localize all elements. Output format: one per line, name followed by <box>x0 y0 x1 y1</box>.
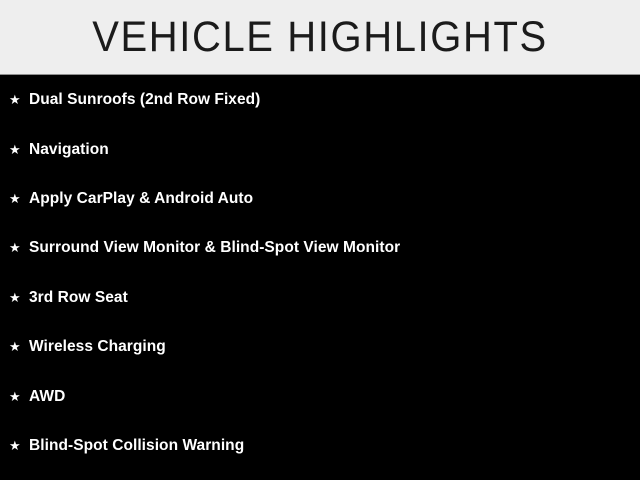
highlight-label: Dual Sunroofs (2nd Row Fixed) <box>29 91 260 108</box>
list-item: ★ Navigation <box>0 124 640 173</box>
star-icon: ★ <box>9 192 29 205</box>
vehicle-highlights-slide: VEHICLE HIGHLIGHTS ★ Dual Sunroofs (2nd … <box>0 0 640 480</box>
highlight-label: 3rd Row Seat <box>29 289 128 306</box>
star-icon: ★ <box>9 291 29 304</box>
list-item: ★ Apply CarPlay & Android Auto <box>0 174 640 223</box>
star-icon: ★ <box>9 439 29 452</box>
highlight-label: Surround View Monitor & Blind-Spot View … <box>29 239 400 256</box>
list-item: ★ Dual Sunroofs (2nd Row Fixed) <box>0 75 640 124</box>
header-band: VEHICLE HIGHLIGHTS <box>0 0 640 74</box>
star-icon: ★ <box>9 93 29 106</box>
list-item: ★ 3rd Row Seat <box>0 273 640 322</box>
highlight-label: Apply CarPlay & Android Auto <box>29 190 253 207</box>
highlight-label: Blind-Spot Collision Warning <box>29 437 244 454</box>
star-icon: ★ <box>9 143 29 156</box>
list-item: ★ AWD <box>0 371 640 420</box>
highlight-label: AWD <box>29 388 65 405</box>
highlights-body: ★ Dual Sunroofs (2nd Row Fixed) ★ Naviga… <box>0 75 640 480</box>
star-icon: ★ <box>9 390 29 403</box>
highlight-label: Wireless Charging <box>29 338 166 355</box>
vehicle-highlights-list: ★ Dual Sunroofs (2nd Row Fixed) ★ Naviga… <box>0 75 640 470</box>
star-icon: ★ <box>9 241 29 254</box>
page-title: VEHICLE HIGHLIGHTS <box>92 16 548 58</box>
highlight-label: Navigation <box>29 141 109 158</box>
star-icon: ★ <box>9 340 29 353</box>
list-item: ★ Surround View Monitor & Blind-Spot Vie… <box>0 223 640 272</box>
list-item: ★ Blind-Spot Collision Warning <box>0 421 640 470</box>
list-item: ★ Wireless Charging <box>0 322 640 371</box>
